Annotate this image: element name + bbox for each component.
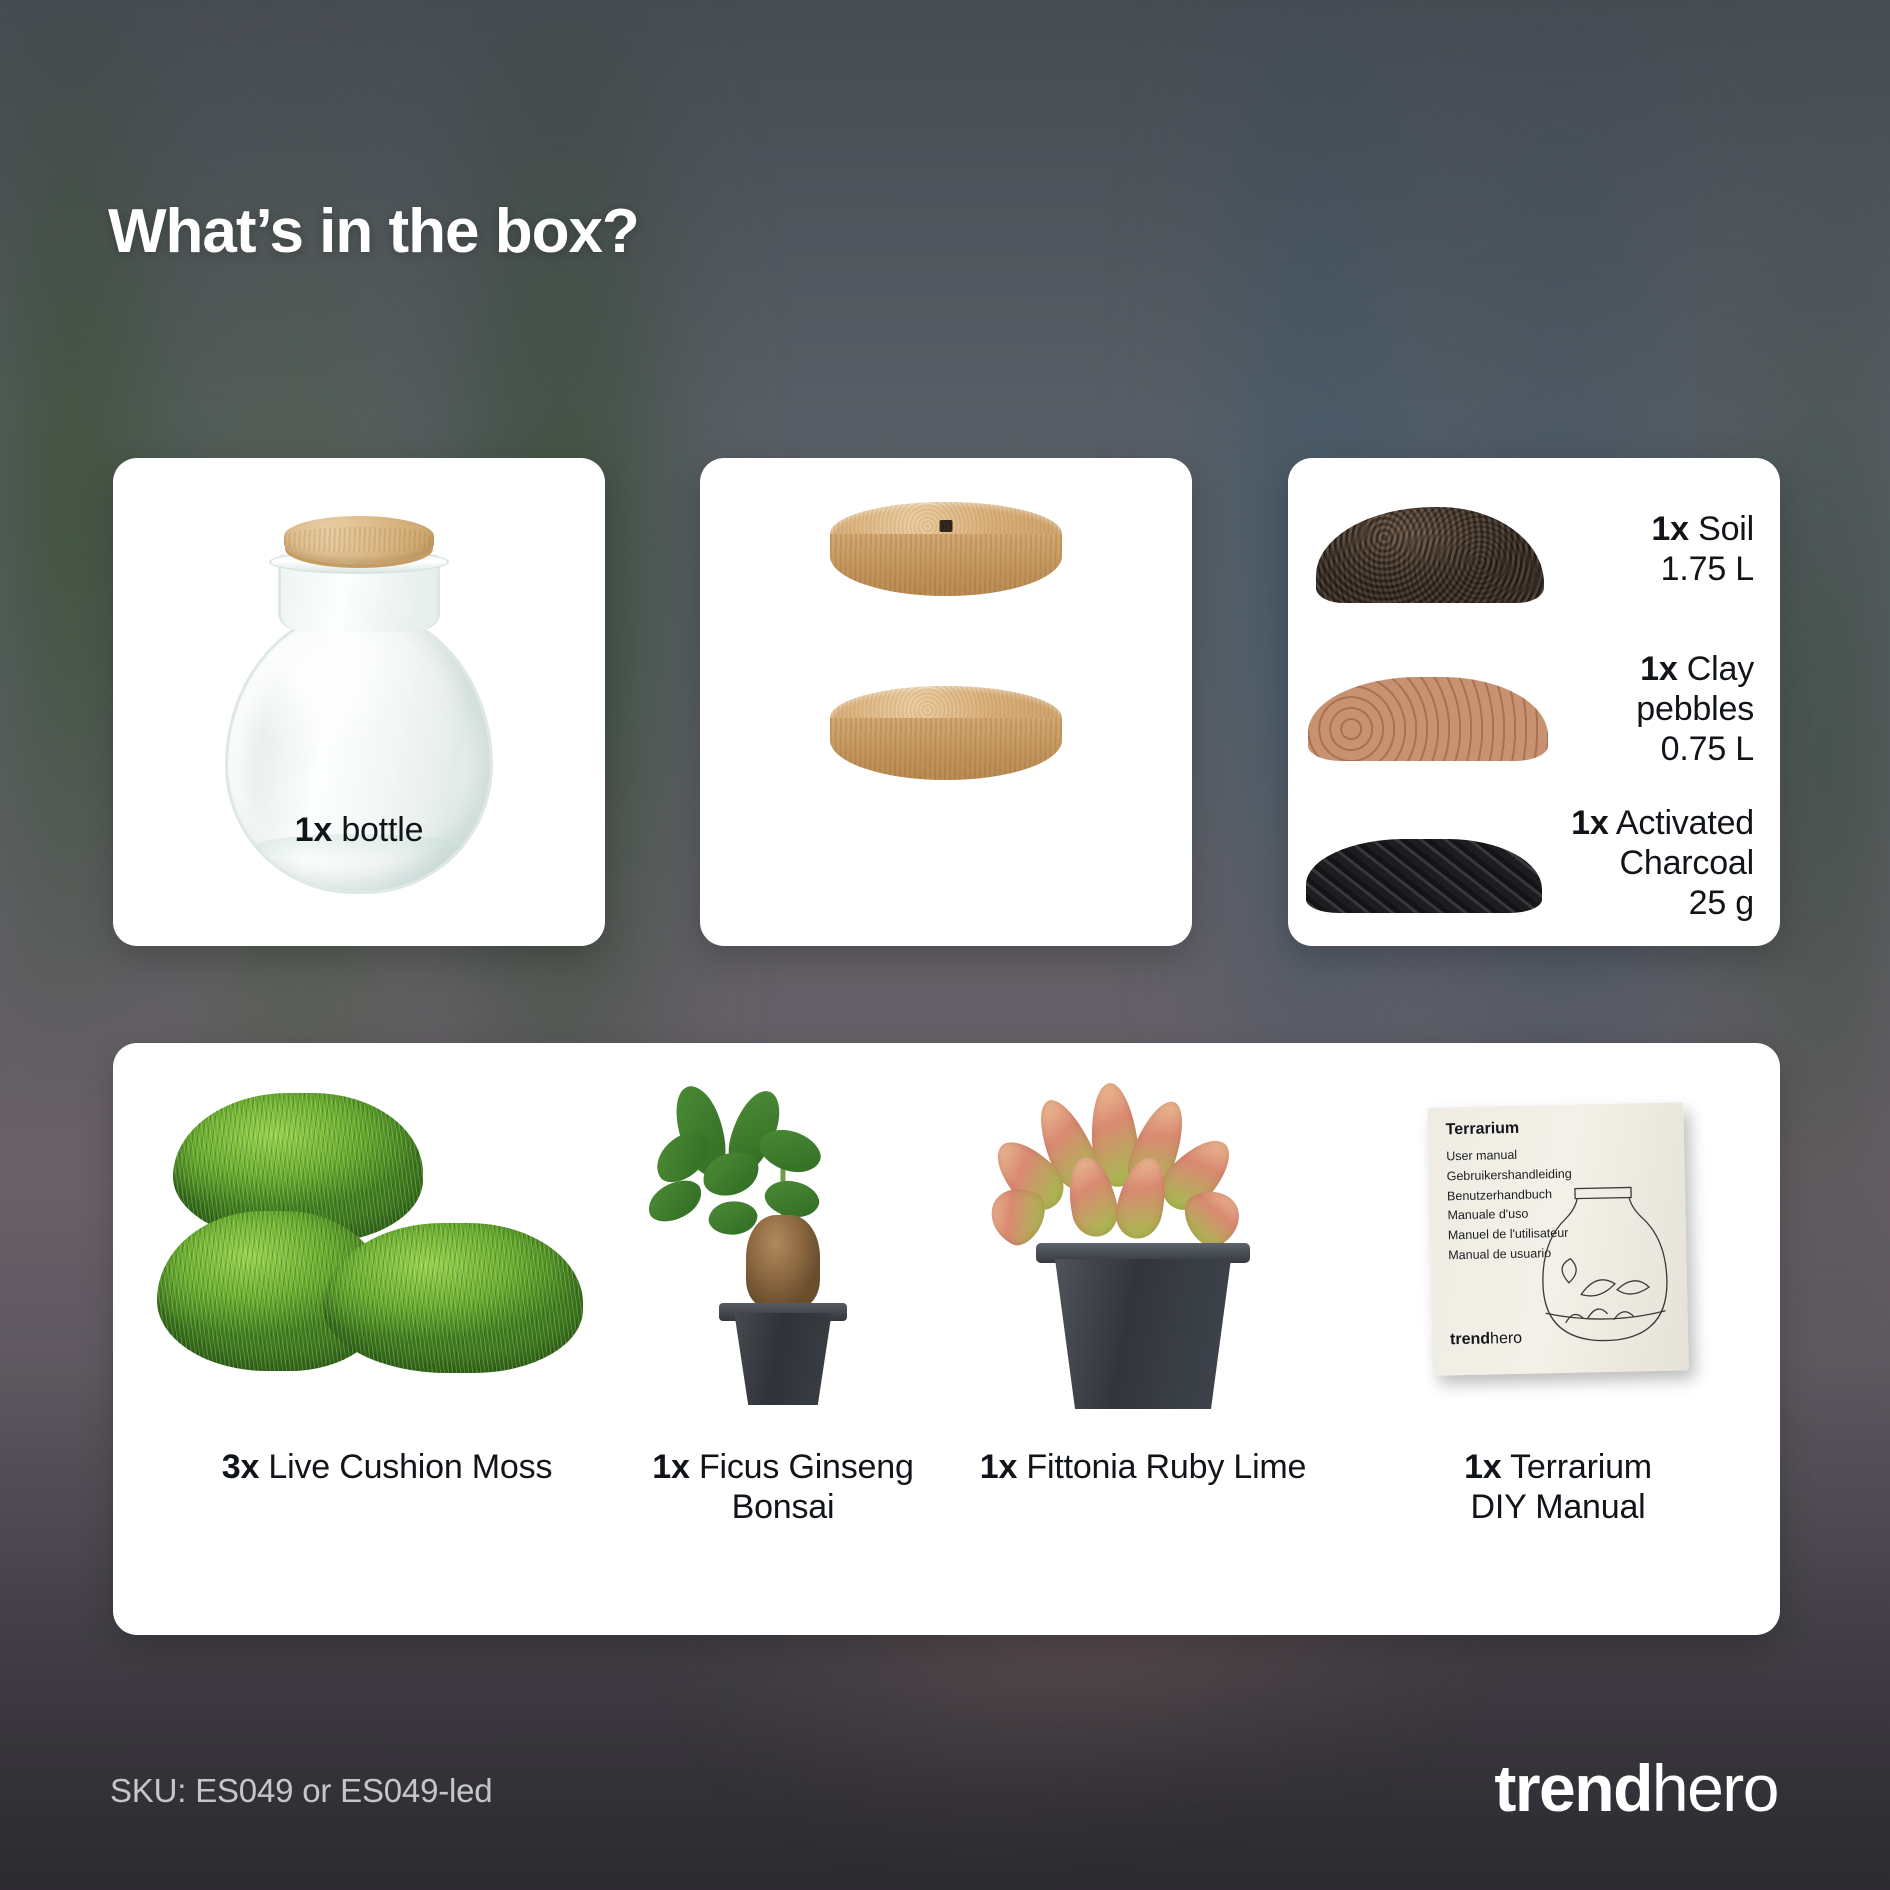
substrate-row: 1x Soil 1.75 L xyxy=(1288,474,1780,624)
fittonia-caption: 1x Fittonia Ruby Lime xyxy=(917,1447,1369,1487)
activated-charcoal-icon xyxy=(1302,803,1552,923)
soil-caption: 1x Soil 1.75 L xyxy=(1552,509,1780,589)
brand-logo: trendhero xyxy=(1494,1750,1778,1826)
fittonia-ruby-lime-icon xyxy=(923,1083,1363,1413)
booklet-logo-light: hero xyxy=(1490,1330,1522,1348)
cork-side-icon xyxy=(830,534,1062,596)
clay-amount: 0.75 L xyxy=(1661,730,1754,768)
ficus-label-2: Bonsai xyxy=(732,1488,835,1526)
moss-caption: 3x Live Cushion Moss xyxy=(141,1447,633,1487)
plant-column-fittonia: 1x Fittonia Ruby Lime xyxy=(923,1043,1363,1635)
booklet-lang: User manual xyxy=(1446,1145,1571,1167)
clay-qty: 1x xyxy=(1640,650,1677,688)
manual-caption: 1x Terrarium DIY Manual xyxy=(1337,1447,1779,1527)
cork-side-icon xyxy=(830,718,1062,780)
booklet-title: Terrarium xyxy=(1446,1120,1520,1140)
booklet-jar-drawing xyxy=(1523,1170,1687,1363)
moss-label: Live Cushion Moss xyxy=(259,1448,552,1486)
substrate-row: 1x Activated Charcoal 25 g xyxy=(1288,788,1780,938)
bottle-qty: 1x xyxy=(295,811,332,849)
soil-name: Soil xyxy=(1689,510,1754,548)
ficus-label: Ficus Ginseng xyxy=(690,1448,914,1486)
page-title: What’s in the box? xyxy=(108,196,639,267)
clay-pebbles-icon xyxy=(1302,649,1552,769)
booklet-cover: Terrarium User manual Gebruikershandleid… xyxy=(1427,1102,1689,1375)
ficus-qty: 1x xyxy=(652,1448,689,1486)
card-plants: 3x Live Cushion Moss 1x Ficus Ginseng xyxy=(113,1043,1780,1635)
card-bottle: 1x bottle xyxy=(113,458,605,946)
manual-qty: 1x xyxy=(1464,1448,1501,1486)
cork-plain-illustration xyxy=(830,686,1062,780)
charcoal-qty: 1x xyxy=(1571,804,1608,842)
plant-column-manual: Terrarium User manual Gebruikershandleid… xyxy=(1343,1043,1773,1635)
booklet-logo-bold: trend xyxy=(1450,1330,1490,1348)
charcoal-amount: 25 g xyxy=(1689,884,1754,922)
substrate-row: 1x Clay pebbles 0.75 L xyxy=(1288,634,1780,784)
fittonia-label: Fittonia Ruby Lime xyxy=(1017,1448,1306,1486)
clay-caption: 1x Clay pebbles 0.75 L xyxy=(1552,649,1780,769)
brand-logo-bold: trend xyxy=(1494,1751,1652,1825)
plant-column-moss: 3x Live Cushion Moss xyxy=(147,1043,627,1635)
brand-logo-light: hero xyxy=(1652,1751,1778,1825)
clay-name: Clay xyxy=(1678,650,1754,688)
jar-cork-icon xyxy=(284,516,434,564)
clay-name-2: pebbles xyxy=(1636,690,1754,728)
bottle-caption: 1x bottle xyxy=(113,810,605,850)
infographic-root: What’s in the box? 1x bottle or 1x (LED) xyxy=(0,0,1890,1890)
soil-amount: 1.75 L xyxy=(1661,550,1754,588)
moss-qty: 3x xyxy=(222,1448,259,1486)
fittonia-qty: 1x xyxy=(980,1448,1017,1486)
led-hole-icon xyxy=(940,520,953,532)
cushion-moss-icon xyxy=(147,1083,627,1413)
terrarium-manual-icon: Terrarium User manual Gebruikershandleid… xyxy=(1343,1083,1773,1413)
manual-label-2: DIY Manual xyxy=(1470,1488,1645,1526)
bottle-label: bottle xyxy=(332,811,423,849)
cork-led-illustration xyxy=(830,502,1062,596)
soil-pile-icon xyxy=(1302,489,1552,609)
card-cork: or 1x (LED) cork xyxy=(700,458,1192,946)
manual-label: Terrarium xyxy=(1502,1448,1652,1486)
soil-qty: 1x xyxy=(1651,510,1688,548)
sku-text: SKU: ES049 or ES049-led xyxy=(110,1772,492,1810)
bottle-illustration xyxy=(113,458,605,946)
charcoal-name-2: Charcoal xyxy=(1620,844,1754,882)
charcoal-caption: 1x Activated Charcoal 25 g xyxy=(1552,803,1780,923)
booklet-logo: trendhero xyxy=(1450,1330,1522,1350)
charcoal-name: Activated xyxy=(1609,804,1754,842)
card-substrates: 1x Soil 1.75 L 1x Clay pebbles 0.75 L 1x… xyxy=(1288,458,1780,946)
